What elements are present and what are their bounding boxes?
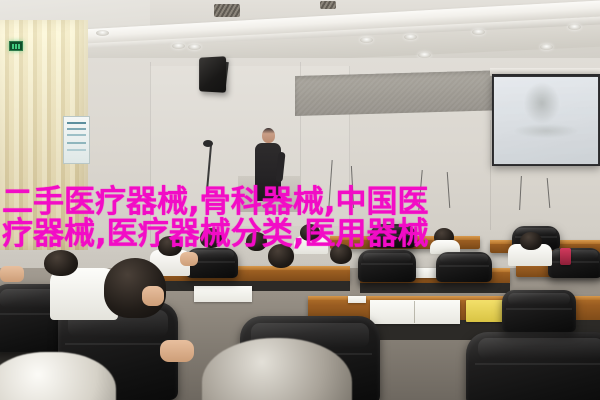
ceiling-vent [214, 4, 240, 17]
chair [548, 248, 600, 278]
presenter-head [262, 128, 275, 143]
chair [502, 290, 576, 332]
audience-hand [160, 340, 194, 362]
screenshot-root: 二手医疗器械,骨科器械,中国医 疗器械,医疗器械分类,医用器械 [0, 0, 600, 400]
downlight [540, 44, 553, 50]
watermark-text-line-2: 疗器械,医疗器械分类,医用器械 [2, 218, 600, 250]
projection-screen [492, 74, 600, 166]
wall-poster [63, 116, 90, 164]
audience-head [44, 250, 78, 276]
audience-arm [0, 266, 24, 282]
audience-neck [142, 286, 164, 306]
projected-image [494, 77, 598, 164]
chair [466, 332, 600, 400]
downlight [96, 30, 109, 36]
chair [358, 250, 416, 282]
acoustic-wall-band [295, 70, 495, 116]
exit-sign-icon [9, 41, 23, 51]
document-paper [370, 300, 460, 324]
audience-arm [180, 252, 198, 266]
desk-front [360, 283, 510, 293]
chair [436, 252, 492, 282]
mobile-phone [560, 248, 571, 265]
downlight [472, 29, 485, 35]
downlight [360, 37, 373, 43]
downlight [404, 34, 417, 40]
downlight [568, 24, 581, 30]
microphone-icon [203, 140, 213, 147]
document-paper [194, 286, 252, 302]
ceiling-vent [320, 1, 336, 9]
downlight [188, 44, 201, 50]
document-paper [348, 296, 366, 303]
downlight [172, 43, 185, 49]
projection-screen-surface [494, 77, 598, 164]
watermark-text-line-1: 二手医疗器械,骨科器械,中国医 [2, 186, 600, 218]
ceiling-speaker [199, 56, 226, 93]
